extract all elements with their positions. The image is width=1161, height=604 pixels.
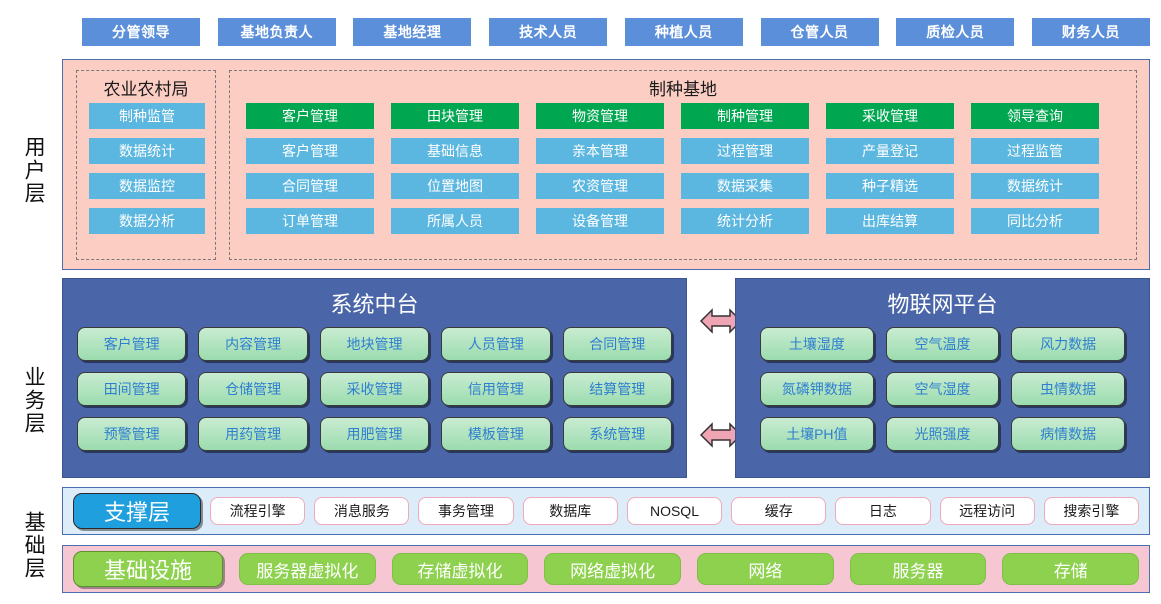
infrastructure-item-3[interactable]: 网络虚拟化: [544, 553, 681, 585]
support-tag-8[interactable]: 远程访问: [940, 497, 1035, 525]
middle-platform-item-7[interactable]: 仓储管理: [198, 372, 307, 406]
seed-base-column-4: 制种管理过程管理数据采集统计分析: [681, 103, 809, 234]
group-seed-base-title: 制种基地: [230, 75, 1136, 100]
seed-base-column-2: 田块管理基础信息位置地图所属人员: [391, 103, 519, 234]
support-layer-title: 支撑层: [73, 493, 201, 529]
architecture-diagram: 分管领导基地负责人基地经理技术人员种植人员仓管人员质检人员财务人员 用户层 业务…: [0, 0, 1161, 604]
support-tag-2[interactable]: 消息服务: [314, 497, 409, 525]
bureau-column-1: 制种监管数据统计数据监控数据分析: [89, 103, 205, 234]
seed-base-col2-item-1[interactable]: 基础信息: [391, 138, 519, 164]
seed-base-col3-head[interactable]: 物资管理: [536, 103, 664, 129]
group-bureau: 农业农村局 制种监管数据统计数据监控数据分析: [76, 70, 216, 260]
group-bureau-title: 农业农村局: [77, 75, 215, 100]
iot-platform-item-9[interactable]: 病情数据: [1011, 417, 1125, 451]
seed-base-col3-item-2[interactable]: 农资管理: [536, 173, 664, 199]
middle-platform-item-14[interactable]: 模板管理: [441, 417, 550, 451]
seed-base-column-1: 客户管理客户管理合同管理订单管理: [246, 103, 374, 234]
support-tag-list: 流程引擎消息服务事务管理数据库NOSQL缓存日志远程访问搜索引擎: [210, 497, 1139, 525]
seed-base-col5-head[interactable]: 采收管理: [826, 103, 954, 129]
role-button-4[interactable]: 技术人员: [489, 18, 607, 46]
seed-base-col2-item-2[interactable]: 位置地图: [391, 173, 519, 199]
middle-platform-item-9[interactable]: 信用管理: [441, 372, 550, 406]
seed-base-col6-head[interactable]: 领导查询: [971, 103, 1099, 129]
iot-platform-item-2[interactable]: 空气温度: [886, 327, 1000, 361]
middle-platform-item-1[interactable]: 客户管理: [77, 327, 186, 361]
middle-platform-item-12[interactable]: 用药管理: [198, 417, 307, 451]
iot-platform-grid: 土壤湿度空气温度风力数据氮磷钾数据空气湿度虫情数据土壤PH值光照强度病情数据: [760, 327, 1125, 451]
iot-platform-item-3[interactable]: 风力数据: [1011, 327, 1125, 361]
seed-base-column-6: 领导查询过程监管数据统计同比分析: [971, 103, 1099, 234]
role-button-2[interactable]: 基地负责人: [218, 18, 336, 46]
middle-platform-panel: 系统中台 客户管理内容管理地块管理人员管理合同管理田间管理仓储管理采收管理信用管…: [62, 278, 687, 478]
seed-base-col4-item-1[interactable]: 过程管理: [681, 138, 809, 164]
middle-platform-item-4[interactable]: 人员管理: [441, 327, 550, 361]
role-button-7[interactable]: 质检人员: [896, 18, 1014, 46]
role-bar: 分管领导基地负责人基地经理技术人员种植人员仓管人员质检人员财务人员: [82, 18, 1150, 46]
support-layer-panel: 支撑层 流程引擎消息服务事务管理数据库NOSQL缓存日志远程访问搜索引擎: [62, 487, 1150, 535]
layer-label-user: 用户层: [16, 100, 50, 240]
seed-base-col3-item-3[interactable]: 设备管理: [536, 208, 664, 234]
role-button-8[interactable]: 财务人员: [1032, 18, 1150, 46]
infrastructure-item-1[interactable]: 服务器虚拟化: [239, 553, 376, 585]
iot-platform-item-1[interactable]: 土壤湿度: [760, 327, 874, 361]
infrastructure-item-2[interactable]: 存储虚拟化: [392, 553, 529, 585]
user-layer-panel: 农业农村局 制种监管数据统计数据监控数据分析 制种基地 客户管理客户管理合同管理…: [62, 59, 1150, 270]
infrastructure-title: 基础设施: [73, 551, 223, 587]
seed-base-col6-item-3[interactable]: 同比分析: [971, 208, 1099, 234]
middle-platform-grid: 客户管理内容管理地块管理人员管理合同管理田间管理仓储管理采收管理信用管理结算管理…: [77, 327, 672, 451]
infrastructure-item-6[interactable]: 存储: [1002, 553, 1139, 585]
middle-platform-item-2[interactable]: 内容管理: [198, 327, 307, 361]
seed-base-col5-item-3[interactable]: 出库结算: [826, 208, 954, 234]
support-tag-5[interactable]: NOSQL: [627, 497, 722, 525]
seed-base-col4-item-3[interactable]: 统计分析: [681, 208, 809, 234]
middle-platform-item-3[interactable]: 地块管理: [320, 327, 429, 361]
infrastructure-layer-panel: 基础设施 服务器虚拟化存储虚拟化网络虚拟化网络服务器存储: [62, 545, 1150, 593]
seed-base-col5-item-1[interactable]: 产量登记: [826, 138, 954, 164]
support-tag-7[interactable]: 日志: [835, 497, 930, 525]
role-button-5[interactable]: 种植人员: [625, 18, 743, 46]
layer-label-business: 业务层: [16, 330, 50, 470]
layer-label-foundation: 基础层: [16, 490, 50, 600]
iot-platform-item-4[interactable]: 氮磷钾数据: [760, 372, 874, 406]
role-button-1[interactable]: 分管领导: [82, 18, 200, 46]
bureau-col1-item-3[interactable]: 数据分析: [89, 208, 205, 234]
iot-platform-title: 物联网平台: [736, 287, 1149, 319]
seed-base-col6-item-2[interactable]: 数据统计: [971, 173, 1099, 199]
support-tag-3[interactable]: 事务管理: [418, 497, 513, 525]
business-layer-panel: 系统中台 客户管理内容管理地块管理人员管理合同管理田间管理仓储管理采收管理信用管…: [62, 278, 1150, 478]
bureau-col1-head[interactable]: 制种监管: [89, 103, 205, 129]
middle-platform-item-13[interactable]: 用肥管理: [320, 417, 429, 451]
support-tag-1[interactable]: 流程引擎: [210, 497, 305, 525]
seed-base-col1-head[interactable]: 客户管理: [246, 103, 374, 129]
support-tag-4[interactable]: 数据库: [523, 497, 618, 525]
iot-platform-panel: 物联网平台 土壤湿度空气温度风力数据氮磷钾数据空气湿度虫情数据土壤PH值光照强度…: [735, 278, 1150, 478]
group-seed-base: 制种基地 客户管理客户管理合同管理订单管理田块管理基础信息位置地图所属人员物资管…: [229, 70, 1137, 260]
middle-platform-item-5[interactable]: 合同管理: [563, 327, 672, 361]
seed-base-col1-item-1[interactable]: 客户管理: [246, 138, 374, 164]
seed-base-col4-head[interactable]: 制种管理: [681, 103, 809, 129]
infrastructure-item-list: 服务器虚拟化存储虚拟化网络虚拟化网络服务器存储: [239, 553, 1139, 585]
support-tag-6[interactable]: 缓存: [731, 497, 826, 525]
middle-platform-item-11[interactable]: 预警管理: [77, 417, 186, 451]
seed-base-col3-item-1[interactable]: 亲本管理: [536, 138, 664, 164]
bureau-col1-item-2[interactable]: 数据监控: [89, 173, 205, 199]
iot-platform-item-5[interactable]: 空气湿度: [886, 372, 1000, 406]
iot-platform-item-6[interactable]: 虫情数据: [1011, 372, 1125, 406]
support-tag-9[interactable]: 搜索引擎: [1044, 497, 1139, 525]
seed-base-col1-item-3[interactable]: 订单管理: [246, 208, 374, 234]
seed-base-column-3: 物资管理亲本管理农资管理设备管理: [536, 103, 664, 234]
infrastructure-item-4[interactable]: 网络: [697, 553, 834, 585]
seed-base-col6-item-1[interactable]: 过程监管: [971, 138, 1099, 164]
middle-platform-item-10[interactable]: 结算管理: [563, 372, 672, 406]
role-button-6[interactable]: 仓管人员: [761, 18, 879, 46]
seed-base-col4-item-2[interactable]: 数据采集: [681, 173, 809, 199]
middle-platform-title: 系统中台: [63, 287, 686, 319]
seed-base-col2-head[interactable]: 田块管理: [391, 103, 519, 129]
role-button-3[interactable]: 基地经理: [353, 18, 471, 46]
iot-platform-item-8[interactable]: 光照强度: [886, 417, 1000, 451]
seed-base-column-5: 采收管理产量登记种子精选出库结算: [826, 103, 954, 234]
middle-platform-item-8[interactable]: 采收管理: [320, 372, 429, 406]
iot-platform-item-7[interactable]: 土壤PH值: [760, 417, 874, 451]
infrastructure-item-5[interactable]: 服务器: [850, 553, 987, 585]
middle-platform-item-6[interactable]: 田间管理: [77, 372, 186, 406]
middle-platform-item-15[interactable]: 系统管理: [563, 417, 672, 451]
seed-base-col2-item-3[interactable]: 所属人员: [391, 208, 519, 234]
seed-base-col5-item-2[interactable]: 种子精选: [826, 173, 954, 199]
seed-base-col1-item-2[interactable]: 合同管理: [246, 173, 374, 199]
bureau-col1-item-1[interactable]: 数据统计: [89, 138, 205, 164]
